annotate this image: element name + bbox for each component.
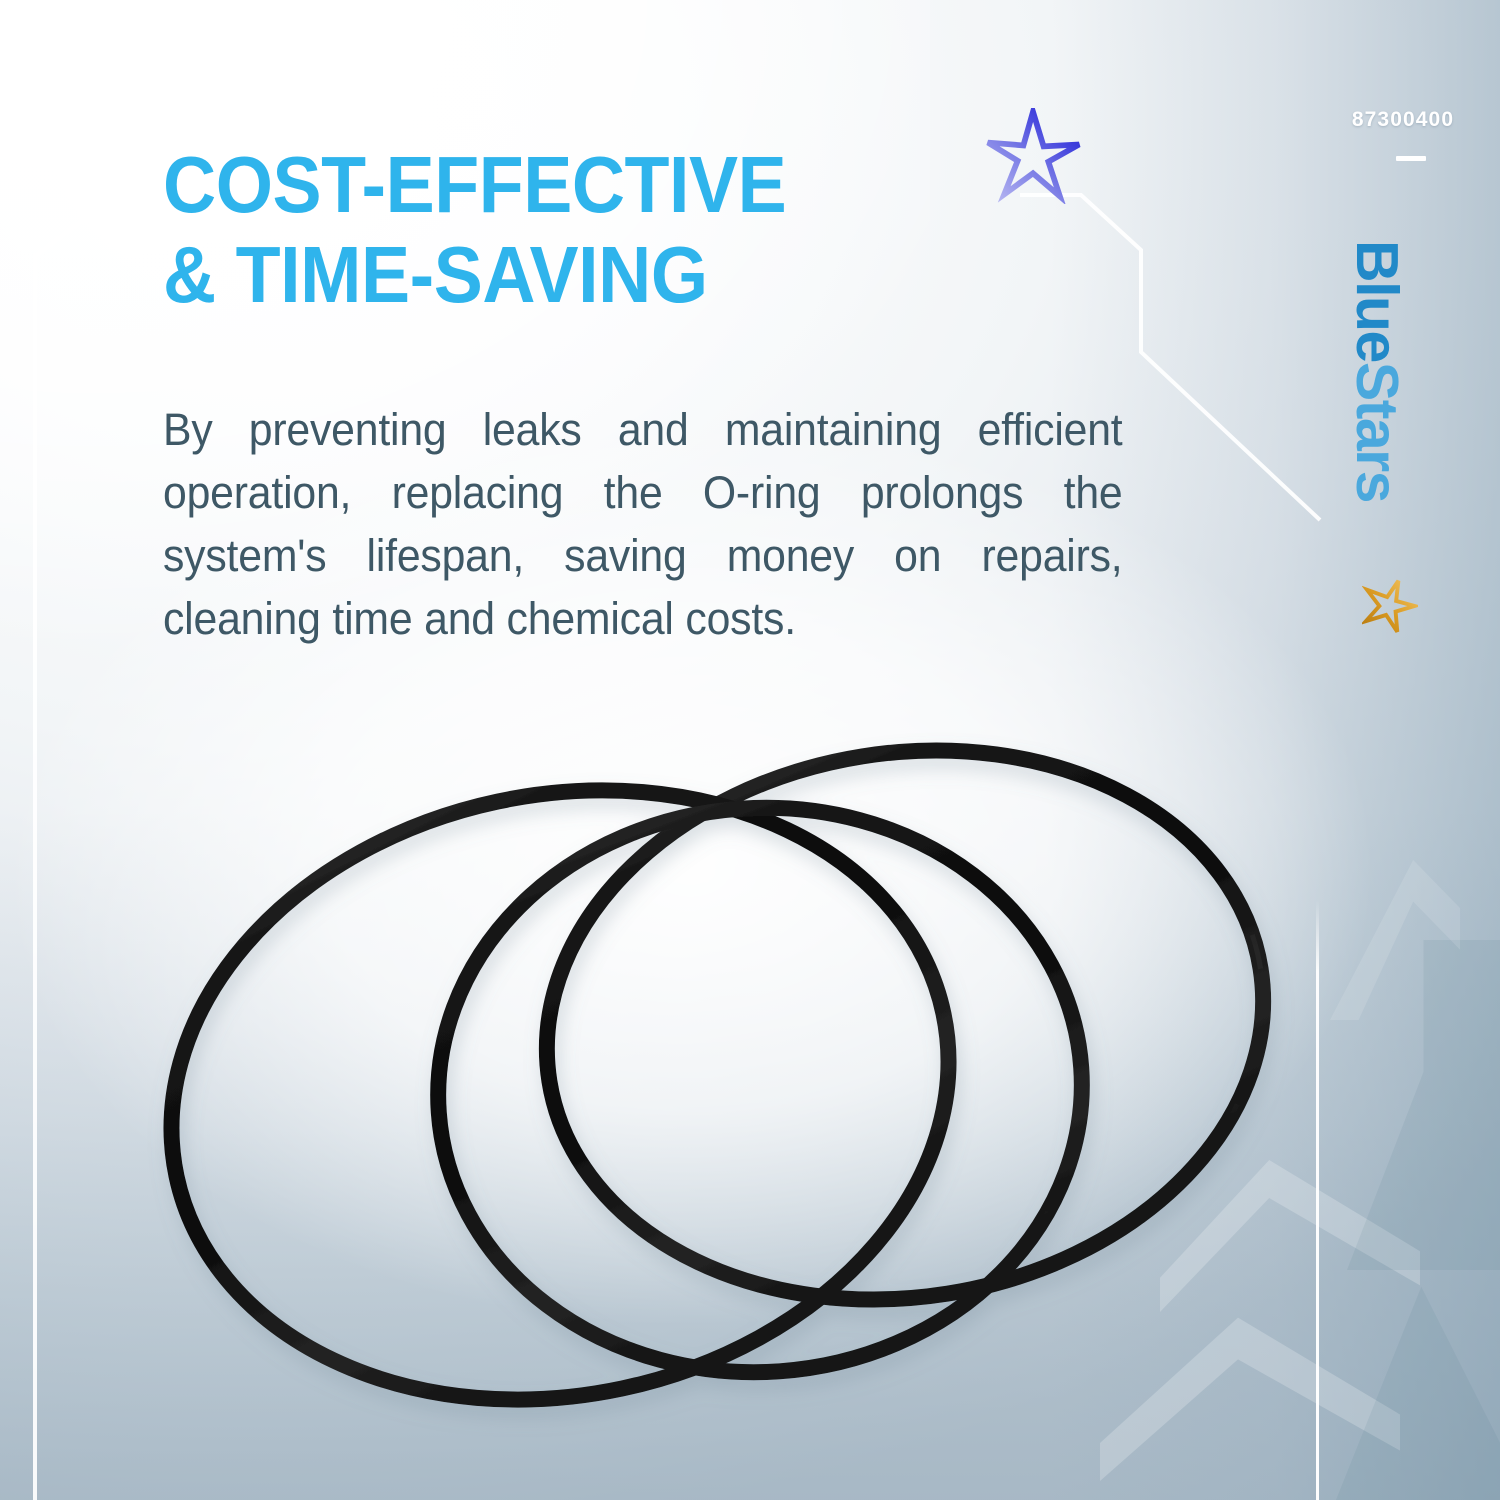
part-number-underline [1396,156,1426,161]
brand-logo-text: BlueStars [1347,240,1406,502]
right-divider-line [1316,900,1319,1500]
sparkle-star-icon [985,108,1081,204]
page-title: COST-EFFECTIVE & TIME-SAVING [163,140,991,319]
body-paragraph: By preventing leaks and maintaining effi… [163,398,1123,650]
brand-sparkle-star-icon [1362,578,1418,634]
brand-logo-stars: Stars [1344,362,1410,502]
part-number-label: 87300400 [1318,108,1488,132]
product-infographic-canvas: COST-EFFECTIVE & TIME-SAVING By preventi… [0,0,1500,1500]
brand-logo-blue: Blue [1344,240,1410,362]
